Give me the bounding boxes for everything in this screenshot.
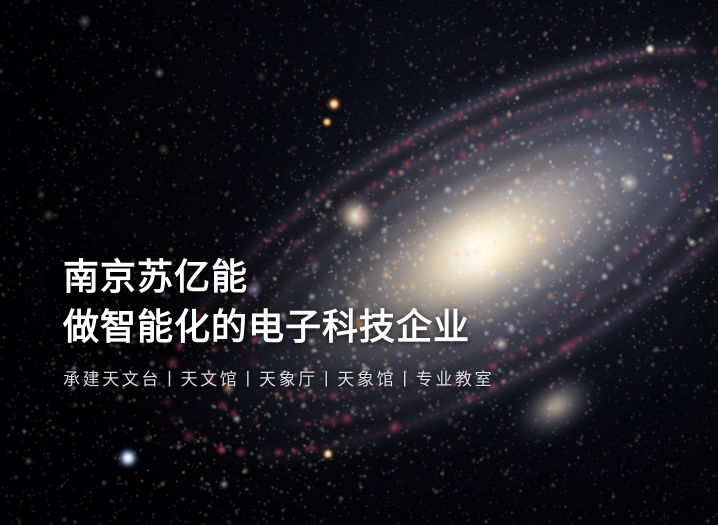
- headline-line-2: 做智能化的电子科技企业: [63, 302, 663, 352]
- subtitle-line: 承建天文台丨天文馆丨天象厅丨天象馆丨专业教室: [63, 368, 663, 392]
- headline-line-1: 南京苏亿能: [63, 252, 663, 302]
- caption-block: 南京苏亿能 做智能化的电子科技企业 承建天文台丨天文馆丨天象厅丨天象馆丨专业教室: [63, 252, 663, 392]
- hero-banner: 南京苏亿能 做智能化的电子科技企业 承建天文台丨天文馆丨天象厅丨天象馆丨专业教室: [0, 0, 718, 525]
